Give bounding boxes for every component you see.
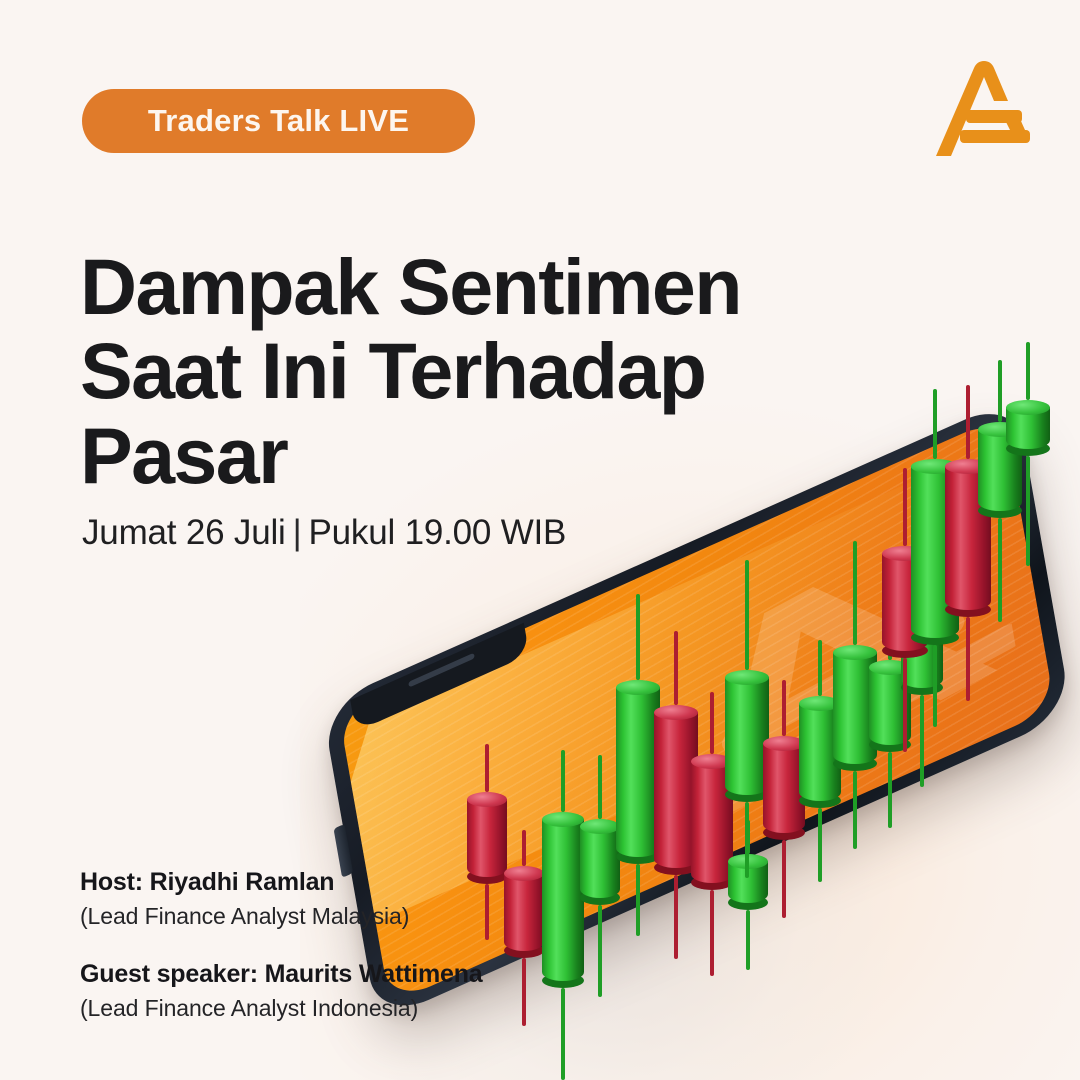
candle-body (728, 854, 768, 910)
live-badge[interactable]: Traders Talk LIVE (82, 89, 475, 153)
candle-body-top (882, 546, 928, 561)
candle-body (882, 546, 928, 658)
candle-wick-upper (710, 692, 714, 754)
speaker-host: Host: Riyadhi Ramlan (Lead Finance Analy… (80, 866, 483, 932)
candle-14-bull (901, 625, 943, 695)
candle-body-top (691, 754, 733, 769)
candle-wick-lower (933, 645, 937, 727)
candle-body-bottom (869, 737, 911, 752)
candle-body-top (1006, 400, 1050, 415)
aspire-a-logo-icon (930, 58, 1038, 162)
candle-body-top (580, 819, 620, 834)
candle-3-bull (542, 812, 584, 988)
candle-body-top (542, 812, 584, 827)
candle-body (1006, 400, 1050, 456)
candle-body (763, 736, 805, 840)
event-datetime: Jumat 26 Juli|Pukul 19.00 WIB (82, 513, 566, 553)
candle-wick-lower (966, 617, 970, 701)
candle-wick-lower (818, 808, 822, 882)
candle-body-top (945, 459, 991, 474)
candle-4-bull (580, 819, 620, 905)
candle-8-bull (728, 854, 768, 910)
candle-wick-upper (598, 755, 602, 819)
candle-body (725, 670, 769, 802)
candle-wick-upper (903, 468, 907, 546)
candle-17-bear (945, 459, 991, 617)
candle-wick-upper (782, 680, 786, 736)
candle-body-bottom (691, 875, 733, 890)
candle-6-bear (654, 705, 698, 875)
headline-line-3: Pasar (80, 414, 840, 499)
candle-body-side (869, 667, 911, 745)
candle-body-bottom (763, 825, 805, 840)
candle-body-top (833, 645, 877, 660)
candle-body-top (978, 422, 1022, 437)
candle-body (799, 696, 841, 808)
candle-body-bottom (504, 943, 544, 958)
candle-wick-upper (674, 631, 678, 705)
candle-wick-upper (485, 744, 489, 792)
candle-body-side (901, 632, 943, 688)
candle-9-bull (725, 670, 769, 802)
candle-wick-upper (966, 385, 970, 459)
candle-body-side (654, 712, 698, 868)
candle-body (869, 660, 911, 752)
candle-body-top (467, 792, 507, 807)
live-badge-label: Traders Talk LIVE (148, 103, 409, 139)
candle-body-side (945, 466, 991, 610)
candle-wick-upper (746, 820, 750, 854)
event-date: Jumat 26 Juli (82, 513, 286, 552)
candle-body (504, 866, 544, 958)
candle-body-bottom (616, 849, 660, 864)
candle-body (901, 625, 943, 695)
candle-body-top (504, 866, 544, 881)
candle-body-side (728, 861, 768, 903)
candle-wick-upper (522, 830, 526, 866)
candle-wick-upper (920, 573, 924, 625)
candle-wick-lower (782, 840, 786, 918)
candle-wick-lower (636, 864, 640, 936)
candle-11-bull (799, 696, 841, 808)
candle-2-bear (504, 866, 544, 958)
candle-body-side (1006, 407, 1050, 449)
candle-body-top (901, 625, 943, 640)
candle-wick-upper (888, 606, 892, 660)
candle-body-bottom (654, 860, 698, 875)
candle-body (580, 819, 620, 905)
headline-line-1: Dampak Sentimen (80, 245, 840, 330)
candle-body (691, 754, 733, 890)
candle-wick-lower (998, 518, 1002, 622)
candle-body (833, 645, 877, 771)
candle-body-top (911, 459, 959, 474)
candle-body-side (616, 687, 660, 857)
datetime-separator: | (286, 513, 309, 553)
candle-wick-lower (1026, 456, 1030, 566)
candle-wick-upper (933, 389, 937, 459)
candle-body-bottom (978, 503, 1022, 518)
candle-15-bear (882, 546, 928, 658)
candle-wick-lower (920, 695, 924, 787)
candle-wick-upper (636, 594, 640, 680)
candle-wick-upper (561, 750, 565, 812)
candle-12-bull (833, 645, 877, 771)
candle-18-bull (978, 422, 1022, 518)
candle-wick-lower (745, 802, 749, 878)
candle-wick-lower (903, 658, 907, 752)
candle-body-bottom (833, 756, 877, 771)
candle-body-bottom (882, 643, 928, 658)
candle-7-bear (691, 754, 733, 890)
candle-wick-upper (1026, 342, 1030, 400)
headline-line-2: Saat Ini Terhadap (80, 329, 840, 414)
candle-5-bull (616, 680, 660, 864)
guest-role: (Lead Finance Analyst Indonesia) (80, 992, 483, 1024)
candle-body-side (978, 429, 1022, 511)
candle-13-bull (869, 660, 911, 752)
candle-body-bottom (725, 787, 769, 802)
event-time: Pukul 19.00 WIB (309, 513, 567, 552)
candle-body-top (654, 705, 698, 720)
candle-body (911, 459, 959, 645)
candle-wick-upper (818, 640, 822, 696)
candle-wick-lower (485, 884, 489, 940)
speaker-guest: Guest speaker: Maurits Wattimena (Lead F… (80, 958, 483, 1024)
candle-body-bottom (911, 630, 959, 645)
candle-wick-upper (745, 560, 749, 670)
poster-canvas: Traders Talk LIVE Dampak Sentimen Saat I… (0, 0, 1080, 1080)
candle-wick-lower (853, 771, 857, 849)
candle-body-top (869, 660, 911, 675)
candle-body-side (799, 703, 841, 801)
candle-body-top (799, 696, 841, 711)
candle-body-side (691, 761, 733, 883)
candle-body (616, 680, 660, 864)
candle-wick-upper (853, 541, 857, 645)
host-role: (Lead Finance Analyst Malaysia) (80, 900, 483, 932)
candle-body-bottom (901, 680, 943, 695)
candle-body (542, 812, 584, 988)
candle-body (978, 422, 1022, 518)
candle-body (945, 459, 991, 617)
candle-wick-lower (561, 988, 565, 1080)
candle-body-top (616, 680, 660, 695)
page-title: Dampak Sentimen Saat Ini Terhadap Pasar (80, 245, 840, 499)
candle-wick-lower (674, 875, 678, 959)
phone-notch (350, 623, 529, 732)
candle-body-side (833, 652, 877, 764)
candle-wick-lower (746, 910, 750, 970)
candle-wick-lower (888, 752, 892, 828)
candle-19-bull (1006, 400, 1050, 456)
candle-body-bottom (580, 890, 620, 905)
phone-earpiece (408, 653, 475, 688)
candle-body-side (504, 873, 544, 951)
guest-name: Guest speaker: Maurits Wattimena (80, 958, 483, 992)
candle-body-top (763, 736, 805, 751)
candle-body-bottom (542, 973, 584, 988)
candle-body-side (882, 553, 928, 651)
candle-16-bull (911, 459, 959, 645)
candle-body-top (725, 670, 769, 685)
candle-body-bottom (728, 895, 768, 910)
candle-body-bottom (799, 793, 841, 808)
candle-wick-upper (998, 360, 1002, 422)
candle-wick-lower (598, 905, 602, 997)
host-name: Host: Riyadhi Ramlan (80, 866, 483, 900)
screen-watermark-a-logo (600, 480, 1026, 880)
candle-body-bottom (945, 602, 991, 617)
candle-10-bear (763, 736, 805, 840)
candle-body-side (580, 826, 620, 898)
candle-wick-lower (522, 958, 526, 1026)
candle-body-side (763, 743, 805, 833)
candle-body-side (725, 677, 769, 795)
candle-wick-lower (710, 890, 714, 976)
candle-body-side (542, 819, 584, 981)
candle-body-bottom (1006, 441, 1050, 456)
candle-body (654, 705, 698, 875)
speaker-list: Host: Riyadhi Ramlan (Lead Finance Analy… (80, 866, 483, 1024)
candle-body-top (728, 854, 768, 869)
candle-body-side (911, 466, 959, 638)
